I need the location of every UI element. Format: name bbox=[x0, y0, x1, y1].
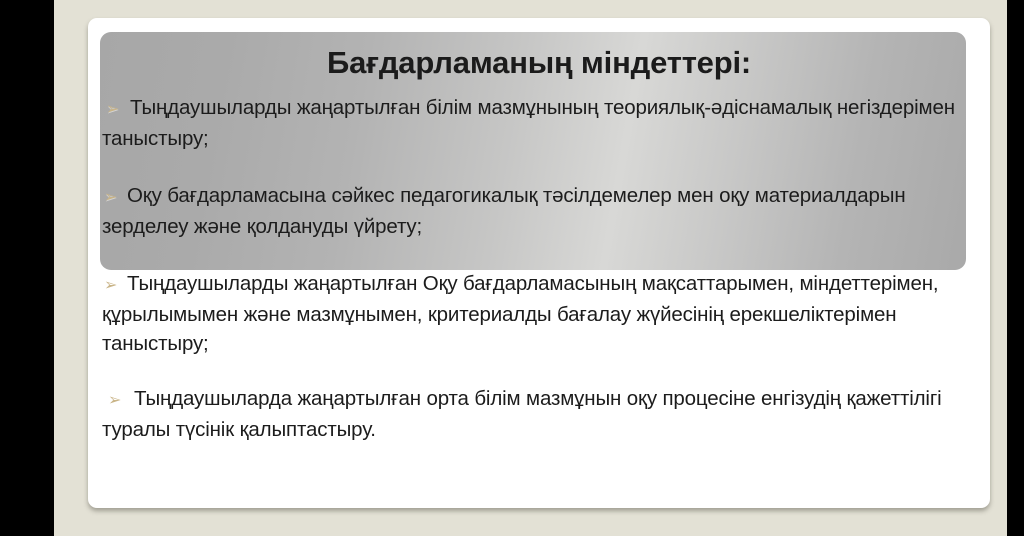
list-item: ➢Тыңдаушыларды жаңартылған Оқу бағдарлам… bbox=[102, 269, 980, 358]
list-item-text: Тыңдаушыларды жаңартылған білім мазмұнын… bbox=[102, 96, 955, 150]
slide-card: Бағдарламаның міндеттері: ➢Тыңдаушыларды… bbox=[88, 18, 990, 508]
slide-stage: Бағдарламаның міндеттері: ➢Тыңдаушыларды… bbox=[0, 0, 1024, 536]
list-item: ➢Оқу бағдарламасына сәйкес педагогикалық… bbox=[102, 181, 980, 241]
arrow-bullet-icon: ➢ bbox=[104, 271, 124, 300]
page-title: Бағдарламаның міндеттері: bbox=[88, 45, 990, 81]
slide-content: Бағдарламаның міндеттері: ➢Тыңдаушыларды… bbox=[88, 18, 990, 508]
list-item-text: Тыңдаушыларды жаңартылған Оқу бағдарлама… bbox=[102, 272, 938, 355]
arrow-bullet-icon: ➢ bbox=[104, 183, 124, 212]
list-item-text: Тыңдаушыларда жаңартылған орта білім маз… bbox=[102, 387, 942, 441]
arrow-bullet-icon: ➢ bbox=[106, 95, 126, 124]
arrow-bullet-icon: ➢ bbox=[108, 386, 128, 415]
list-item: ➢Тыңдаушыларда жаңартылған орта білім ма… bbox=[102, 384, 980, 444]
list-item: ➢Тыңдаушыларды жаңартылған білім мазмұны… bbox=[102, 93, 980, 153]
list-item-text: Оқу бағдарламасына сәйкес педагогикалық … bbox=[102, 184, 906, 238]
